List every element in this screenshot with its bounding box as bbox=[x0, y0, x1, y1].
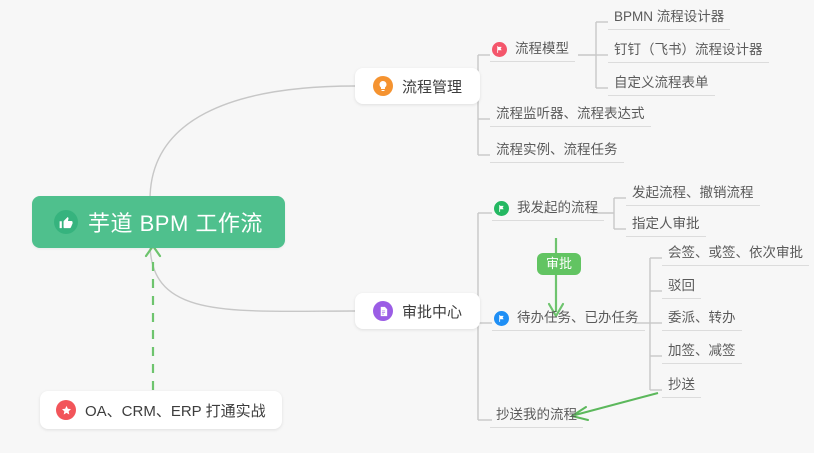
branch-label-process-management: 流程管理 bbox=[402, 76, 462, 97]
leaf-bpmn-designer[interactable]: BPMN 流程设计器 bbox=[608, 6, 730, 30]
branch-node-approval-center[interactable]: 审批中心 bbox=[355, 293, 480, 329]
root-label: 芋道 BPM 工作流 bbox=[88, 206, 263, 238]
annotation-arrow-approval bbox=[549, 238, 563, 316]
leaf-countersign[interactable]: 会签、或签、依次审批 bbox=[662, 242, 809, 266]
link-root-to-process-management bbox=[150, 86, 355, 200]
root-node[interactable]: 芋道 BPM 工作流 bbox=[32, 196, 285, 248]
leaf-cc-to-me[interactable]: 抄送我的流程 bbox=[490, 404, 583, 428]
leaf-label: 发起流程、撤销流程 bbox=[632, 181, 754, 201]
flag-blue-icon bbox=[494, 311, 509, 326]
annotation-badge-approval: 审批 bbox=[537, 253, 581, 275]
leaf-process-listener[interactable]: 流程监听器、流程表达式 bbox=[490, 103, 651, 127]
leaf-label: 流程监听器、流程表达式 bbox=[496, 102, 645, 122]
flag-green-icon bbox=[494, 201, 509, 216]
annotation-arrow-integration bbox=[146, 246, 160, 390]
leaf-cc[interactable]: 抄送 bbox=[662, 374, 701, 398]
branch-label-approval-center: 审批中心 bbox=[402, 301, 462, 322]
document-icon bbox=[373, 301, 393, 321]
flag-red-icon bbox=[492, 42, 507, 57]
leaf-label: 驳回 bbox=[668, 274, 695, 294]
node-label-todo-done-tasks: 待办任务、已办任务 bbox=[517, 306, 639, 326]
leaf-process-instance[interactable]: 流程实例、流程任务 bbox=[490, 139, 624, 163]
leaf-label: 钉钉（飞书）流程设计器 bbox=[614, 38, 763, 58]
node-process-model[interactable]: 流程模型 bbox=[490, 38, 575, 62]
leaf-dingtalk-designer[interactable]: 钉钉（飞书）流程设计器 bbox=[608, 39, 769, 63]
leaf-label: 会签、或签、依次审批 bbox=[668, 241, 803, 261]
leaf-label: 加签、减签 bbox=[668, 339, 736, 359]
node-label-process-model: 流程模型 bbox=[515, 37, 569, 57]
leaf-label: 抄送 bbox=[668, 373, 695, 393]
leaf-label: 指定人审批 bbox=[632, 212, 700, 232]
branch-node-process-management[interactable]: 流程管理 bbox=[355, 68, 480, 104]
star-icon bbox=[56, 400, 76, 420]
annotation-card-integration[interactable]: OA、CRM、ERP 打通实战 bbox=[40, 391, 282, 429]
leaf-assignee-approval[interactable]: 指定人审批 bbox=[626, 213, 706, 237]
annotation-card-label: OA、CRM、ERP 打通实战 bbox=[85, 400, 266, 421]
annotation-badge-label: 审批 bbox=[546, 256, 572, 271]
lightbulb-icon bbox=[373, 76, 393, 96]
leaf-reject[interactable]: 驳回 bbox=[662, 275, 701, 299]
leaf-add-remove-sign[interactable]: 加签、减签 bbox=[662, 340, 742, 364]
thumbs-up-icon bbox=[54, 210, 78, 234]
leaf-custom-form[interactable]: 自定义流程表单 bbox=[608, 72, 715, 96]
mindmap-canvas: 芋道 BPM 工作流 流程管理 流程模型 BPMN 流程设计器 钉钉（飞书）流程… bbox=[0, 0, 814, 453]
leaf-delegate-transfer[interactable]: 委派、转办 bbox=[662, 307, 742, 331]
annotation-arrow-cc bbox=[572, 393, 658, 420]
leaf-label: BPMN 流程设计器 bbox=[614, 5, 724, 25]
node-todo-done-tasks[interactable]: 待办任务、已办任务 bbox=[492, 307, 645, 331]
node-label-my-initiated: 我发起的流程 bbox=[517, 196, 598, 216]
node-my-initiated[interactable]: 我发起的流程 bbox=[492, 197, 604, 221]
leaf-label: 自定义流程表单 bbox=[614, 71, 709, 91]
leaf-start-cancel-process[interactable]: 发起流程、撤销流程 bbox=[626, 182, 760, 206]
link-root-to-approval-center bbox=[150, 243, 355, 311]
leaf-label: 流程实例、流程任务 bbox=[496, 138, 618, 158]
leaf-label: 抄送我的流程 bbox=[496, 403, 577, 423]
leaf-label: 委派、转办 bbox=[668, 306, 736, 326]
